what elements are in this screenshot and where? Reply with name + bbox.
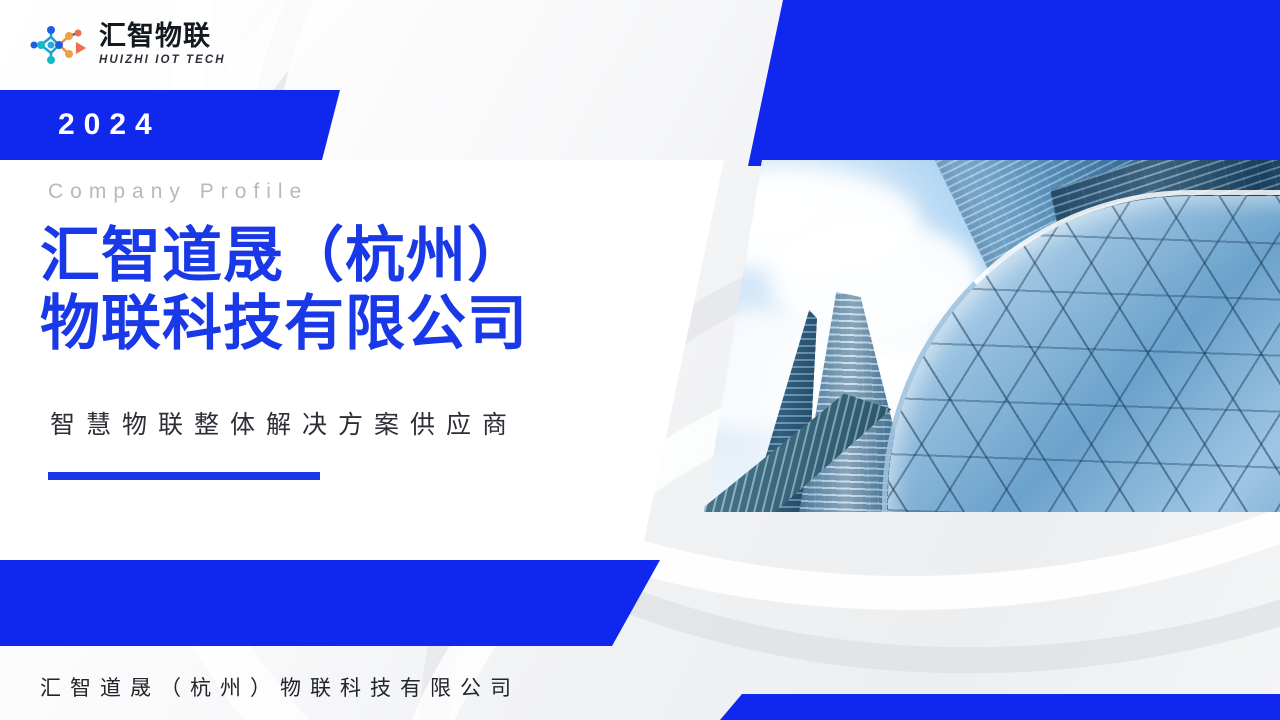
- content-panel: [0, 160, 740, 560]
- brand-logo: 汇智物联 HUIZHI IOT TECH: [28, 22, 226, 68]
- page-title-line-1: 汇智道晟（杭州）: [40, 222, 700, 290]
- bottom-blue-band: [0, 560, 660, 646]
- year-badge: 2024: [0, 90, 340, 160]
- brand-logo-en: HUIZHI IOT TECH: [99, 55, 226, 67]
- page-title-line-2: 物联科技有限公司: [40, 290, 700, 358]
- curved-glass-facade: [888, 196, 1280, 512]
- bottom-right-blue-bar: [720, 694, 1280, 720]
- page-title: 汇智道晟（杭州） 物联科技有限公司: [40, 222, 700, 359]
- footer-company-name: 汇智道晟（杭州）物联科技有限公司: [40, 672, 520, 702]
- accent-rule: [48, 472, 320, 480]
- slide-canvas: 汇智物联 HUIZHI IOT TECH 2024 Company Profil…: [0, 0, 1280, 720]
- brand-logo-text: 汇智物联 HUIZHI IOT TECH: [99, 23, 226, 67]
- molecule-network-icon: [28, 22, 90, 68]
- eyebrow-company-profile: Company Profile: [48, 180, 308, 204]
- year-badge-label: 2024: [58, 108, 161, 142]
- brand-logo-cn: 汇智物联: [99, 23, 226, 50]
- page-subtitle: 智慧物联整体解决方案供应商: [50, 405, 518, 441]
